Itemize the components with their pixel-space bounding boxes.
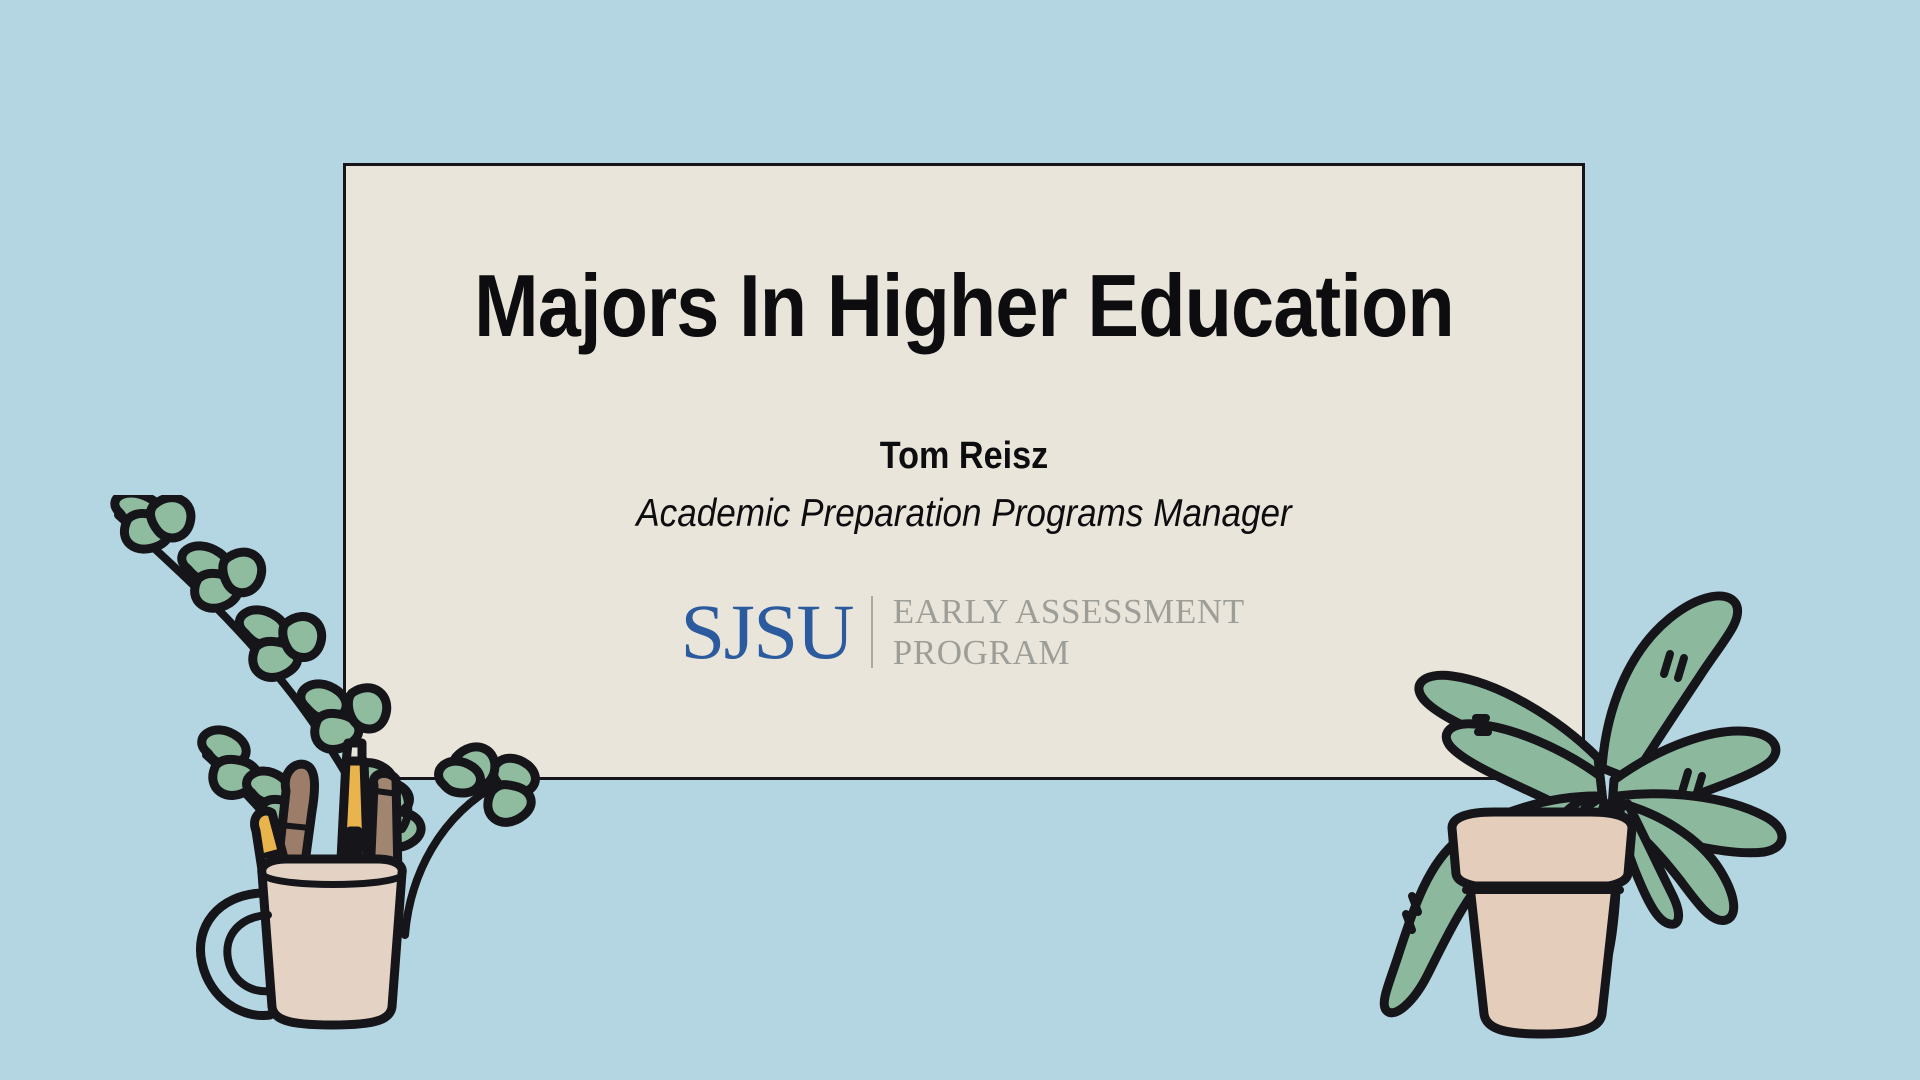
program-wordmark-line-2: PROGRAM xyxy=(893,632,1245,673)
page-title: Majors In Higher Education xyxy=(420,262,1508,350)
program-wordmark-line-1: EARLY ASSESSMENT xyxy=(893,591,1245,632)
presentation-slide: Majors In Higher Education Tom Reisz Aca… xyxy=(0,0,1920,1080)
program-wordmark: EARLY ASSESSMENT PROGRAM xyxy=(893,591,1245,674)
sjsu-institution-mark: SJSU xyxy=(681,595,853,669)
presenter-role: Academic Preparation Programs Manager xyxy=(408,494,1520,533)
sjsu-early-assessment-program-logo: SJSU EARLY ASSESSMENT PROGRAM xyxy=(346,591,1582,674)
slide-content-card: Majors In Higher Education Tom Reisz Aca… xyxy=(343,163,1585,780)
presenter-name: Tom Reisz xyxy=(408,437,1520,475)
logo-divider xyxy=(871,596,873,668)
